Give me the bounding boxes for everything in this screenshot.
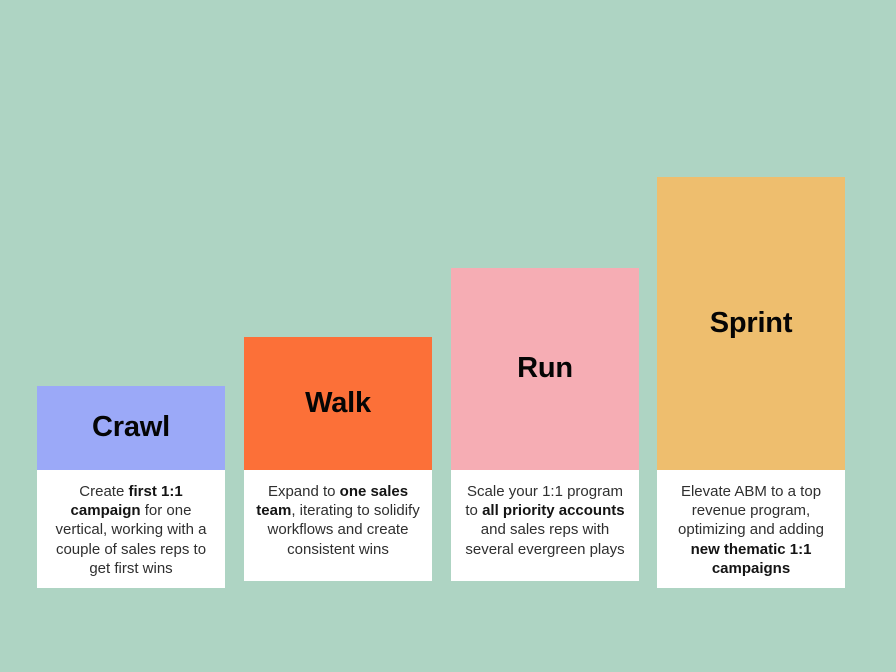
- stage-title-walk: Walk: [305, 388, 371, 420]
- stage-description-sprint: Elevate ABM to a top revenue program, op…: [668, 482, 834, 578]
- stage-description-run-part-2: and sales reps with several evergreen pl…: [465, 521, 624, 557]
- stage-description-panel-sprint: Elevate ABM to a top revenue program, op…: [657, 470, 845, 588]
- stage-column-walk[interactable]: WalkExpand to one sales team, iterating …: [244, 337, 432, 581]
- stage-description-run: Scale your 1:1 program to all priority a…: [462, 482, 628, 559]
- stage-bar-walk: Walk: [244, 337, 432, 470]
- stage-progression-board: CrawlCreate first 1:1 campaign for one v…: [0, 0, 896, 672]
- stage-column-sprint[interactable]: SprintElevate ABM to a top revenue progr…: [657, 177, 845, 581]
- stage-title-sprint: Sprint: [710, 308, 793, 340]
- stage-description-walk: Expand to one sales team, iterating to s…: [255, 482, 421, 559]
- stage-description-walk-part-2: , iterating to solidify workflows and cr…: [268, 502, 420, 557]
- stage-column-run[interactable]: RunScale your 1:1 program to all priorit…: [451, 268, 639, 581]
- stage-title-crawl: Crawl: [92, 412, 170, 444]
- stage-description-sprint-part-1: new thematic 1:1 campaigns: [691, 541, 812, 577]
- stage-description-walk-part-0: Expand to: [268, 483, 340, 500]
- stage-description-panel-run: Scale your 1:1 program to all priority a…: [451, 470, 639, 581]
- stage-description-sprint-part-0: Elevate ABM to a top revenue program, op…: [678, 483, 824, 538]
- stage-bar-crawl: Crawl: [37, 386, 225, 470]
- stage-description-crawl: Create first 1:1 campaign for one vertic…: [48, 482, 214, 578]
- stage-description-panel-crawl: Create first 1:1 campaign for one vertic…: [37, 470, 225, 588]
- stage-bar-run: Run: [451, 268, 639, 470]
- stage-description-run-part-1: all priority accounts: [482, 502, 625, 519]
- stage-title-run: Run: [517, 353, 573, 385]
- stage-description-crawl-part-0: Create: [79, 483, 128, 500]
- stage-description-panel-walk: Expand to one sales team, iterating to s…: [244, 470, 432, 581]
- stage-column-crawl[interactable]: CrawlCreate first 1:1 campaign for one v…: [37, 386, 225, 581]
- stage-bar-sprint: Sprint: [657, 177, 845, 470]
